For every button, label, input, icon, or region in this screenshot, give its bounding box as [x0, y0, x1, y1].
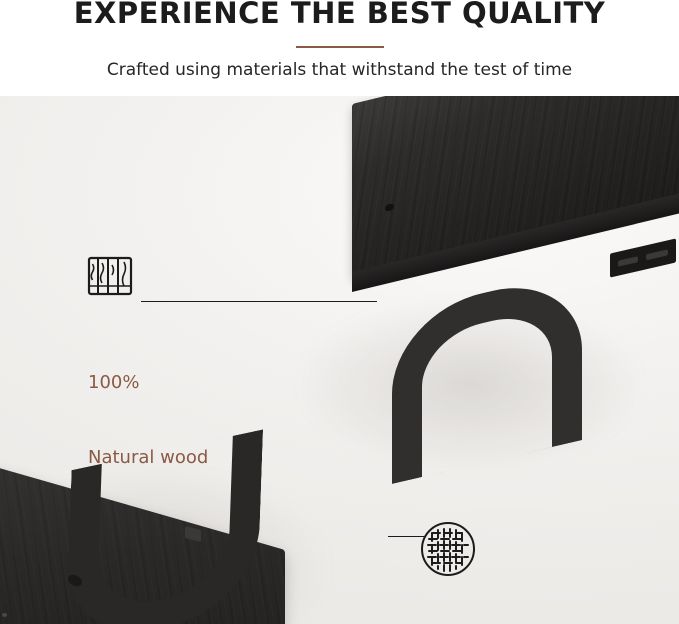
- callout-wood-line2: Natural wood: [88, 445, 208, 470]
- title-divider: [296, 46, 384, 48]
- woven-foam-pad-icon: [420, 521, 476, 582]
- callout-label-foam: EVA foam rubber pads: [420, 583, 529, 624]
- usb-port-right: [646, 249, 668, 260]
- header: EXPERIENCE THE BEST QUALITY Crafted usin…: [0, 0, 679, 96]
- wood-plank-icon: [86, 252, 134, 305]
- callout-label-wood: 100% Natural wood: [88, 320, 208, 520]
- product-feature-image: EXPERIENCE THE BEST QUALITY Crafted usin…: [0, 0, 679, 624]
- stand-port-block: [610, 238, 676, 277]
- stand-leg-arch: [392, 270, 582, 484]
- product-photo: 100% Natural wood: [0, 96, 679, 624]
- callout-leader-line-foam: [388, 536, 426, 537]
- stand-leg-right: [392, 314, 582, 484]
- callout-leader-line-wood: [141, 301, 377, 302]
- page-subtitle: Crafted using materials that withstand t…: [0, 58, 679, 82]
- usb-port-left: [618, 256, 638, 267]
- monitor-stand: [330, 96, 679, 396]
- page-title: EXPERIENCE THE BEST QUALITY: [0, 0, 679, 30]
- board-screw-hole: [2, 613, 7, 617]
- callout-wood-line1: 100%: [88, 370, 208, 395]
